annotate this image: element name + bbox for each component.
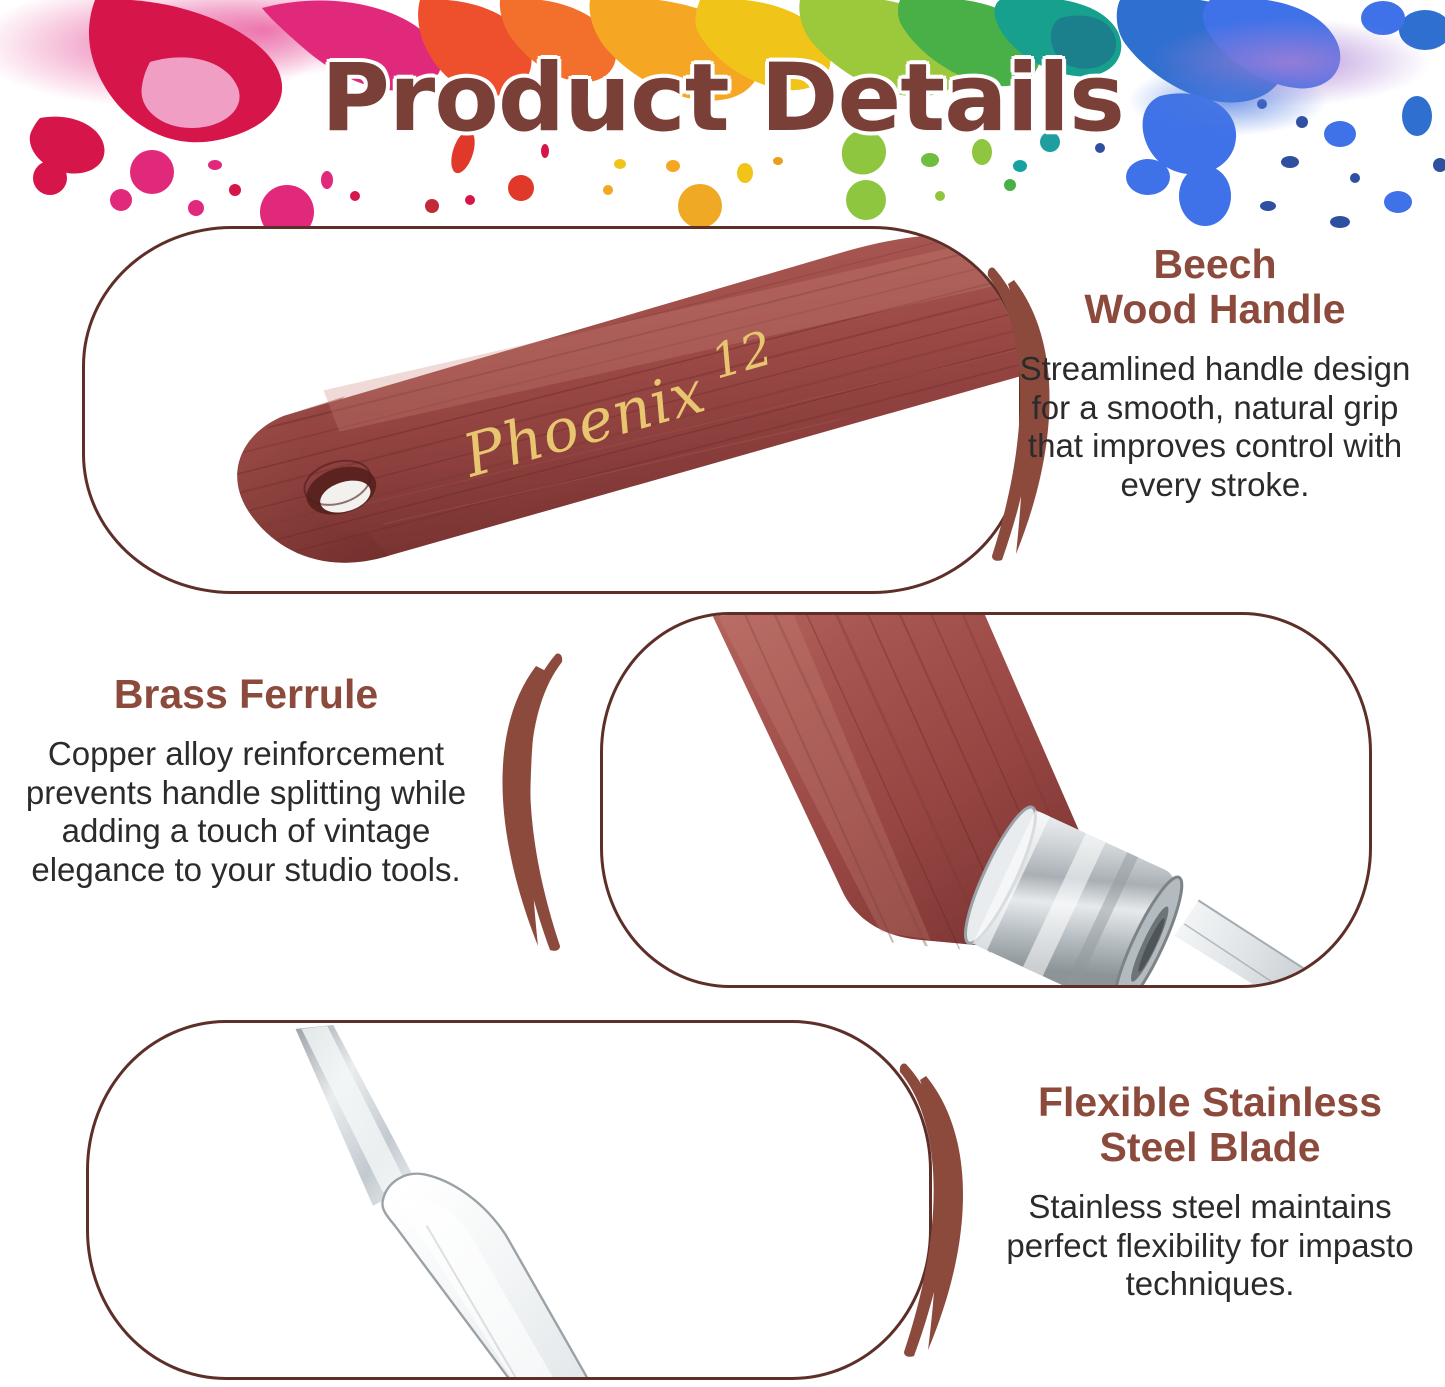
steel-blade-photo xyxy=(89,1023,929,1377)
blade-text-block: Flexible Stainless Steel Blade Stainless… xyxy=(990,1080,1430,1304)
accent-crescent-right-3 xyxy=(898,1060,970,1360)
accent-crescent-left-2 xyxy=(494,648,564,958)
wood-handle-photo: Phoenix 12 xyxy=(85,229,1019,591)
handle-image-frame: Phoenix 12 xyxy=(82,226,1022,594)
brass-ferrule-photo xyxy=(603,615,1369,985)
blade-description: Stainless steel maintains perfect flexib… xyxy=(990,1188,1430,1304)
ferrule-description: Copper alloy reinforcement prevents hand… xyxy=(14,735,478,889)
handle-text-block: Beech Wood Handle Streamlined handle des… xyxy=(1000,242,1430,505)
page-title: Product Details xyxy=(0,52,1445,146)
ferrule-image-frame xyxy=(600,612,1372,988)
product-details-page: Product Details xyxy=(0,0,1445,1387)
blade-title: Flexible Stainless Steel Blade xyxy=(990,1080,1430,1170)
handle-title: Beech Wood Handle xyxy=(1000,242,1430,332)
handle-description: Streamlined handle design for a smooth, … xyxy=(1000,350,1430,504)
blade-image-frame xyxy=(86,1020,932,1380)
ferrule-title: Brass Ferrule xyxy=(14,672,478,717)
ferrule-text-block: Brass Ferrule Copper alloy reinforcement… xyxy=(14,672,478,890)
